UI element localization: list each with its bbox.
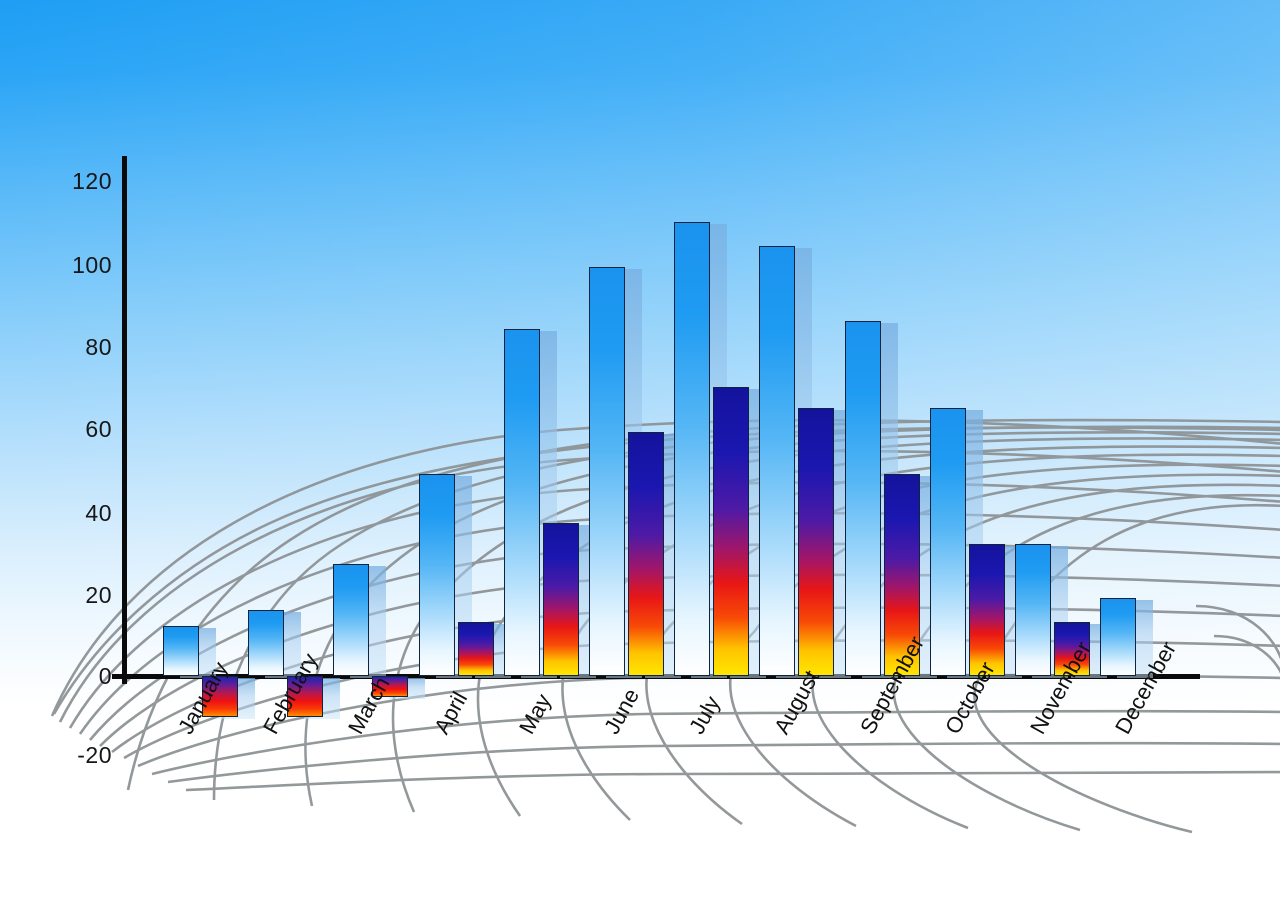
y-tick-label: 20 bbox=[42, 582, 112, 609]
bar-blue bbox=[674, 222, 710, 676]
y-tick-label: 100 bbox=[42, 252, 112, 279]
bar-blue bbox=[930, 408, 966, 676]
bar-blue bbox=[589, 267, 625, 676]
bar-flame bbox=[713, 387, 749, 676]
x-tick-label-april: April bbox=[429, 688, 473, 739]
bar-blue bbox=[333, 564, 369, 676]
bar-blue bbox=[504, 329, 540, 676]
y-tick-label: 80 bbox=[42, 334, 112, 361]
bar-flame bbox=[969, 544, 1005, 676]
bar-blue bbox=[163, 626, 199, 676]
bar-flame bbox=[798, 408, 834, 676]
bar-blue bbox=[419, 474, 455, 676]
x-tick-label-may: May bbox=[514, 690, 557, 739]
bar-blue bbox=[759, 246, 795, 676]
bar-flame bbox=[458, 622, 494, 676]
y-tick-label: -20 bbox=[42, 742, 112, 769]
plot-area: 120 100 80 60 40 20 0 -20 JanuaryFebruar… bbox=[0, 0, 1280, 905]
x-tick-label-march: March bbox=[343, 673, 395, 739]
bar-blue bbox=[1015, 544, 1051, 676]
bar-flame bbox=[628, 432, 664, 676]
y-axis bbox=[122, 156, 127, 684]
x-tick-label-june: June bbox=[599, 684, 645, 738]
y-tick-label: 120 bbox=[42, 168, 112, 195]
bar-flame bbox=[543, 523, 579, 676]
x-tick-label-july: July bbox=[684, 692, 726, 739]
bar-blue bbox=[845, 321, 881, 676]
y-tick-label: 60 bbox=[42, 416, 112, 443]
y-tick-label: 40 bbox=[42, 500, 112, 527]
bar-blue bbox=[248, 610, 284, 676]
y-tick-label: 0 bbox=[42, 663, 112, 690]
bar-blue bbox=[1100, 598, 1136, 676]
chart-canvas: 120 100 80 60 40 20 0 -20 JanuaryFebruar… bbox=[0, 0, 1280, 905]
